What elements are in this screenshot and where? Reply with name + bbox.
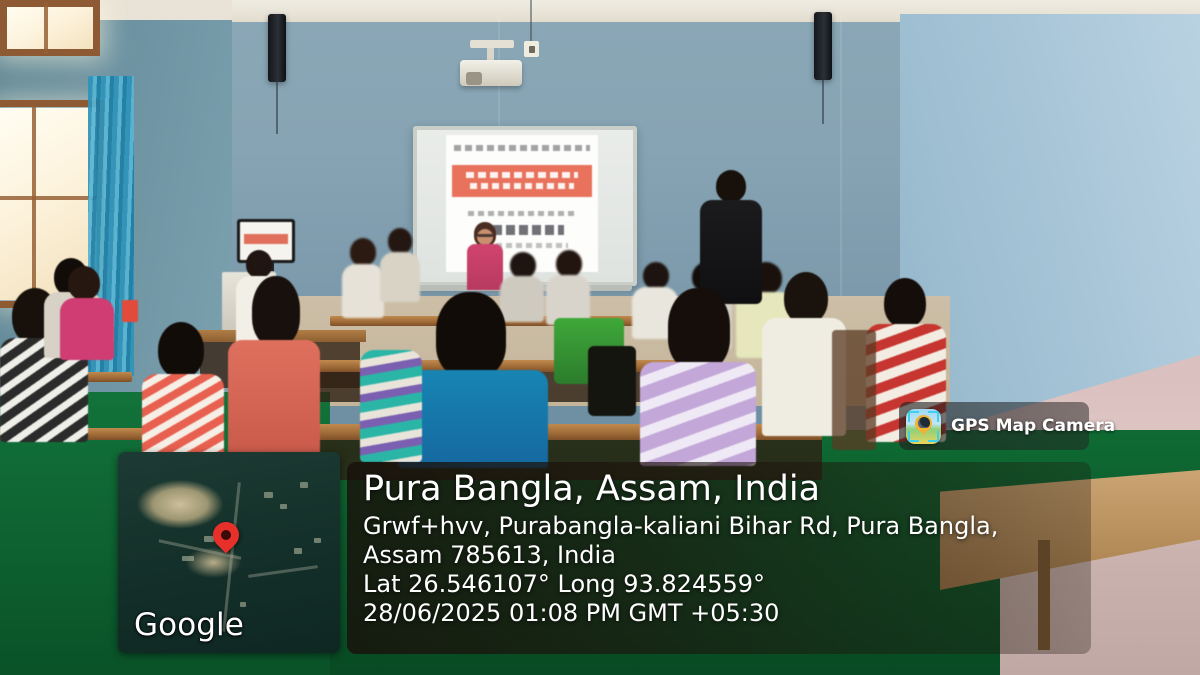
presenter-body [467, 244, 503, 290]
person-head [350, 238, 376, 266]
projector-lens [466, 72, 482, 85]
map-building [264, 492, 273, 498]
slide-subtitle [468, 211, 576, 216]
person-head [436, 292, 506, 378]
paper-cup [122, 300, 138, 322]
person-head [556, 250, 582, 277]
gps-camera-icon [906, 409, 941, 444]
audience-front-person [360, 350, 422, 462]
person-head [158, 322, 204, 378]
map-building [314, 538, 321, 543]
map-building [182, 556, 194, 561]
map-building [280, 504, 287, 509]
person-head [68, 266, 100, 300]
audience-left-person [60, 266, 114, 358]
person-head [784, 272, 828, 324]
map-thumbnail[interactable]: Google [118, 452, 340, 653]
person-body [228, 340, 320, 458]
corner-bracket-icon [908, 431, 919, 442]
location-title: Pura Bangla, Assam, India [363, 468, 820, 510]
projector-cable [530, 0, 532, 42]
audience-left-person [142, 322, 224, 462]
slide-banner-line-1 [466, 172, 578, 178]
address-line-1: Grwf+hvv, Purabangla-kaliani Bihar Rd, P… [363, 512, 998, 541]
presenter-at-screen [465, 222, 505, 288]
slide-header-text [454, 145, 590, 151]
corner-bracket-icon [908, 411, 919, 422]
window-mullion [44, 2, 48, 54]
speaker-cable [822, 80, 824, 124]
speaker-standing [700, 170, 762, 300]
gps-map-camera-photo: Google Pura Bangla, Assam, India Grwf+hv… [0, 0, 1200, 675]
person-body [342, 264, 384, 318]
speaker-cable [276, 82, 278, 134]
monitor-slide-banner [244, 234, 288, 244]
slide-title-banner [452, 165, 592, 197]
person-body [640, 362, 756, 466]
person-head [643, 262, 669, 289]
person-head [716, 170, 746, 202]
audience-person [342, 238, 384, 316]
audience-front-person [228, 276, 320, 452]
person-head [668, 288, 730, 370]
map-building [300, 482, 308, 488]
wall-socket [524, 41, 539, 57]
window-mullion [32, 106, 36, 302]
handbag [554, 318, 624, 438]
address-line-2: Assam 785613, India [363, 541, 998, 570]
location-info-panel: Pura Bangla, Assam, India Grwf+hvv, Pura… [347, 462, 1091, 654]
audience-person [380, 228, 420, 298]
person-head [252, 276, 300, 346]
wall-speaker-left [268, 14, 286, 82]
person-saree [360, 350, 422, 462]
audience-person [546, 250, 590, 320]
person-head [246, 250, 272, 278]
person-head [388, 228, 412, 254]
wall-speaker-right [814, 12, 832, 80]
presenter-glasses [477, 234, 493, 237]
audience-front-person [640, 288, 756, 464]
pin-tail [920, 428, 928, 436]
chair-right [832, 330, 876, 450]
presenter-face [477, 229, 493, 245]
app-name-label: GPS Map Camera [951, 416, 1115, 436]
timestamp-line: 28/06/2025 01:08 PM GMT +05:30 [363, 599, 998, 628]
projector-mount [470, 40, 514, 48]
location-details: Grwf+hvv, Purabangla-kaliani Bihar Rd, P… [363, 512, 998, 628]
person-body [60, 298, 114, 360]
gps-map-camera-badge[interactable]: GPS Map Camera [899, 402, 1089, 450]
handbag-black [588, 346, 636, 416]
person-head [884, 278, 926, 328]
corner-bracket-icon [928, 431, 939, 442]
coordinates-line: Lat 26.546107° Long 93.824559° [363, 570, 998, 599]
window-upper-frame [0, 0, 100, 56]
map-road [248, 565, 318, 578]
person-head [510, 252, 536, 278]
slide-banner-line-2 [470, 183, 574, 189]
map-location-pin [208, 517, 245, 554]
window-transom [0, 196, 100, 200]
map-building [294, 548, 302, 554]
google-watermark: Google [134, 607, 244, 643]
corner-bracket-icon [928, 411, 939, 422]
